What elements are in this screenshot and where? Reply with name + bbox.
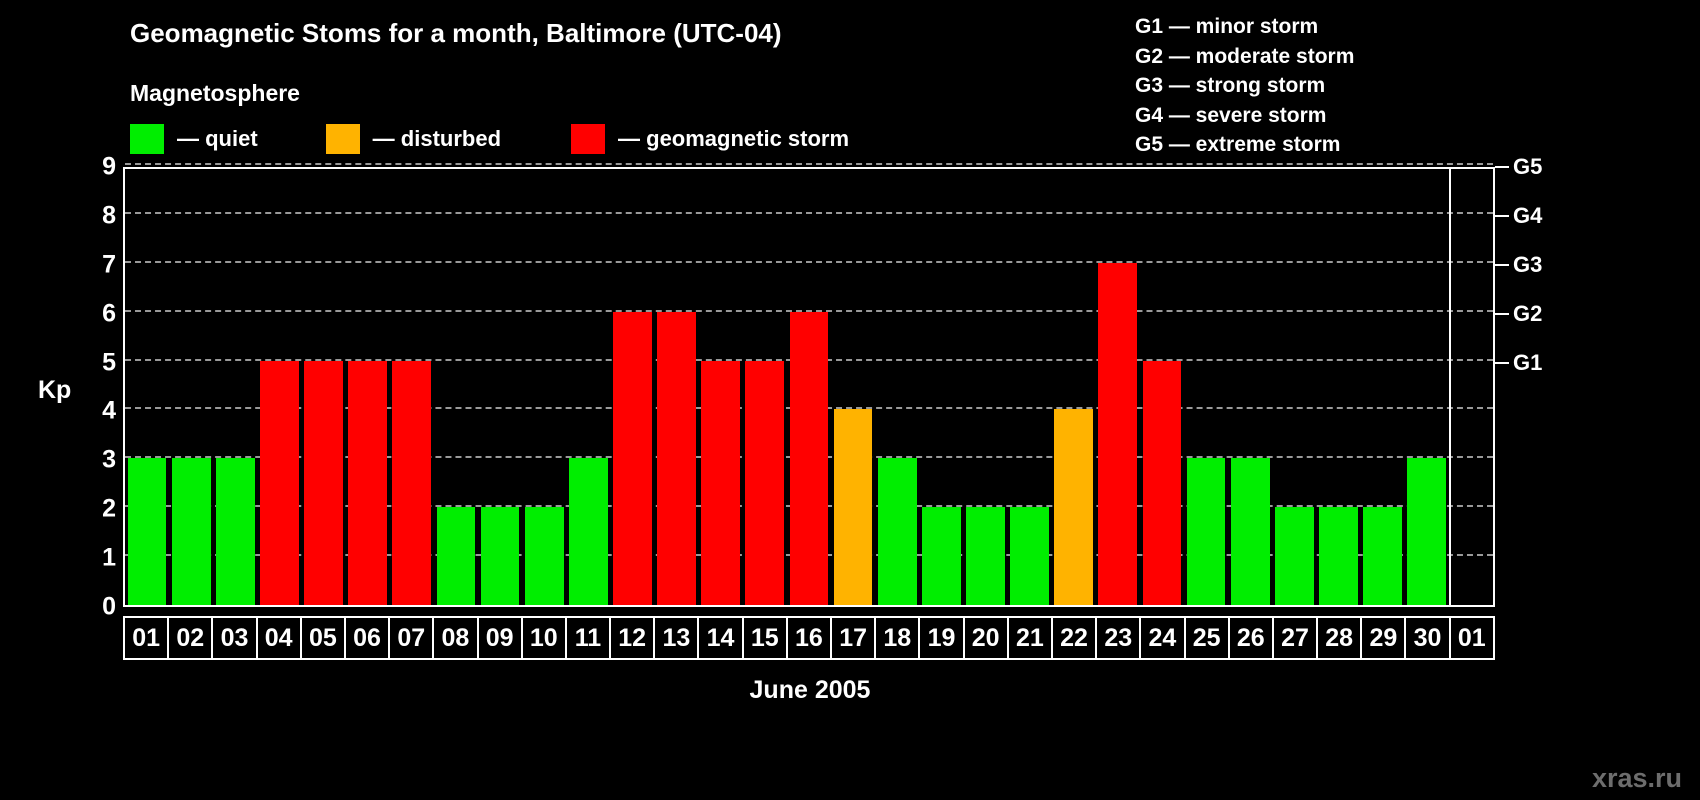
- day-label-14[interactable]: 14: [699, 618, 743, 658]
- bar-slot-day-24[interactable]: [1140, 169, 1184, 605]
- y-tick-5: 5: [102, 348, 116, 377]
- day-label-17[interactable]: 17: [832, 618, 876, 658]
- bar-slot-day-04[interactable]: [257, 169, 301, 605]
- bar-day-03[interactable]: [216, 458, 255, 605]
- bar-day-13[interactable]: [657, 312, 696, 605]
- bar-day-14[interactable]: [701, 361, 740, 605]
- day-label-19[interactable]: 19: [920, 618, 964, 658]
- bar-slot-day-01[interactable]: [1449, 169, 1493, 605]
- day-label-23[interactable]: 23: [1097, 618, 1141, 658]
- y-tick-8: 8: [102, 201, 116, 230]
- day-label-02[interactable]: 02: [169, 618, 213, 658]
- bar-slot-day-30[interactable]: [1405, 169, 1449, 605]
- page-title: Geomagnetic Stoms for a month, Baltimore…: [130, 18, 782, 49]
- bar-day-09[interactable]: [481, 507, 520, 605]
- bar-slot-day-23[interactable]: [1096, 169, 1140, 605]
- y-tick-7: 7: [102, 250, 116, 279]
- bar-day-26[interactable]: [1231, 458, 1270, 605]
- day-label-15[interactable]: 15: [744, 618, 788, 658]
- day-label-06[interactable]: 06: [346, 618, 390, 658]
- day-label-21[interactable]: 21: [1009, 618, 1053, 658]
- g-tick-mark-g4: [1495, 215, 1509, 217]
- watermark: xras.ru: [1592, 763, 1682, 794]
- legend-label-storm: — geomagnetic storm: [618, 126, 849, 152]
- bar-slot-day-22[interactable]: [1052, 169, 1096, 605]
- legend-swatch-storm-icon: [571, 124, 605, 154]
- legend-swatch-quiet-icon: [130, 124, 164, 154]
- day-label-01[interactable]: 01: [1451, 618, 1493, 658]
- day-label-16[interactable]: 16: [788, 618, 832, 658]
- bar-day-15[interactable]: [745, 361, 784, 605]
- g-scale-axis: G5G4G3G2G1: [1513, 167, 1573, 607]
- legend-item-quiet: — quiet: [130, 124, 258, 154]
- bar-day-28[interactable]: [1319, 507, 1358, 605]
- y-axis-title: Kp: [38, 376, 71, 405]
- y-tick-3: 3: [102, 446, 116, 475]
- legend-item-storm: — geomagnetic storm: [571, 124, 849, 154]
- bar-slot-day-17[interactable]: [831, 169, 875, 605]
- day-label-09[interactable]: 09: [479, 618, 523, 658]
- bar-day-04[interactable]: [260, 361, 299, 605]
- legend: — quiet — disturbed — geomagnetic storm: [130, 124, 849, 154]
- day-label-13[interactable]: 13: [655, 618, 699, 658]
- day-label-27[interactable]: 27: [1274, 618, 1318, 658]
- bar-slot-day-08[interactable]: [434, 169, 478, 605]
- bar-slot-day-29[interactable]: [1361, 169, 1405, 605]
- plot-area: [123, 167, 1495, 607]
- g-tick-mark-g1: [1495, 362, 1509, 364]
- bar-slot-day-28[interactable]: [1316, 169, 1360, 605]
- day-label-24[interactable]: 24: [1141, 618, 1185, 658]
- bar-day-25[interactable]: [1187, 458, 1226, 605]
- bar-day-21[interactable]: [1010, 507, 1049, 605]
- y-tick-4: 4: [102, 397, 116, 426]
- bar-slot-day-19[interactable]: [919, 169, 963, 605]
- bar-day-17[interactable]: [834, 409, 873, 605]
- bar-slot-day-10[interactable]: [522, 169, 566, 605]
- y-tick-1: 1: [102, 544, 116, 573]
- x-axis-title: June 2005: [0, 676, 1620, 705]
- g-tick-mark-g3: [1495, 264, 1509, 266]
- bar-slot-day-20[interactable]: [963, 169, 1007, 605]
- day-label-30[interactable]: 30: [1406, 618, 1450, 658]
- bar-day-18[interactable]: [878, 458, 917, 605]
- day-label-04[interactable]: 04: [258, 618, 302, 658]
- day-label-11[interactable]: 11: [567, 618, 611, 658]
- g-scale-line-g5: G5 — extreme storm: [1135, 130, 1354, 160]
- bar-series: [125, 169, 1493, 605]
- day-label-18[interactable]: 18: [876, 618, 920, 658]
- bar-slot-day-09[interactable]: [478, 169, 522, 605]
- legend-swatch-disturbed-icon: [326, 124, 360, 154]
- bar-slot-day-14[interactable]: [699, 169, 743, 605]
- bar-slot-day-05[interactable]: [302, 169, 346, 605]
- legend-heading: Magnetosphere: [130, 80, 300, 107]
- y-tick-9: 9: [102, 153, 116, 182]
- bar-day-08[interactable]: [437, 507, 476, 605]
- day-label-26[interactable]: 26: [1230, 618, 1274, 658]
- gridline-kp-9: [125, 163, 1493, 165]
- bar-slot-day-01[interactable]: [125, 169, 169, 605]
- bar-day-01[interactable]: [128, 458, 167, 605]
- bar-slot-day-11[interactable]: [566, 169, 610, 605]
- g-tick-g5: G5: [1513, 154, 1542, 180]
- bar-day-20[interactable]: [966, 507, 1005, 605]
- bar-slot-day-15[interactable]: [743, 169, 787, 605]
- bar-day-16[interactable]: [790, 312, 829, 605]
- g-scale-line-g4: G4 — severe storm: [1135, 101, 1354, 131]
- bar-day-30[interactable]: [1407, 458, 1446, 605]
- day-label-08[interactable]: 08: [434, 618, 478, 658]
- day-label-20[interactable]: 20: [965, 618, 1009, 658]
- g-scale-line-g3: G3 — strong storm: [1135, 71, 1354, 101]
- g-tick-g4: G4: [1513, 203, 1542, 229]
- bar-day-27[interactable]: [1275, 507, 1314, 605]
- bar-slot-day-06[interactable]: [346, 169, 390, 605]
- legend-label-quiet: — quiet: [177, 126, 258, 152]
- bar-slot-day-27[interactable]: [1272, 169, 1316, 605]
- y-axis: 9876543210: [78, 167, 116, 607]
- bar-slot-day-03[interactable]: [213, 169, 257, 605]
- bar-day-12[interactable]: [613, 312, 652, 605]
- g-tick-mark-g2: [1495, 313, 1509, 315]
- bar-slot-day-21[interactable]: [1008, 169, 1052, 605]
- bar-day-24[interactable]: [1143, 361, 1182, 605]
- bar-day-07[interactable]: [392, 361, 431, 605]
- day-label-03[interactable]: 03: [213, 618, 257, 658]
- bar-day-22[interactable]: [1054, 409, 1093, 605]
- y-tick-2: 2: [102, 495, 116, 524]
- g-tick-mark-g5: [1495, 166, 1509, 168]
- bar-day-19[interactable]: [922, 507, 961, 605]
- day-label-05[interactable]: 05: [302, 618, 346, 658]
- bar-day-29[interactable]: [1363, 507, 1402, 605]
- legend-label-disturbed: — disturbed: [373, 126, 501, 152]
- bar-slot-day-13[interactable]: [655, 169, 699, 605]
- y-tick-0: 0: [102, 593, 116, 622]
- bar-slot-day-18[interactable]: [875, 169, 919, 605]
- bar-day-05[interactable]: [304, 361, 343, 605]
- g-scale-line-g2: G2 — moderate storm: [1135, 42, 1354, 72]
- g-tick-g2: G2: [1513, 301, 1542, 327]
- bar-day-11[interactable]: [569, 458, 608, 605]
- day-label-01[interactable]: 01: [125, 618, 169, 658]
- day-label-28[interactable]: 28: [1318, 618, 1362, 658]
- g-tick-g1: G1: [1513, 350, 1542, 376]
- bar-day-06[interactable]: [348, 361, 387, 605]
- day-label-22[interactable]: 22: [1053, 618, 1097, 658]
- day-label-07[interactable]: 07: [390, 618, 434, 658]
- bar-day-10[interactable]: [525, 507, 564, 605]
- bar-day-23[interactable]: [1098, 263, 1137, 605]
- bar-slot-day-16[interactable]: [787, 169, 831, 605]
- bar-slot-day-02[interactable]: [169, 169, 213, 605]
- bar-slot-day-12[interactable]: [610, 169, 654, 605]
- last-day-divider: [1449, 169, 1451, 605]
- day-label-10[interactable]: 10: [523, 618, 567, 658]
- g-tick-g3: G3: [1513, 252, 1542, 278]
- bar-day-02[interactable]: [172, 458, 211, 605]
- g-scale-legend: G1 — minor storm G2 — moderate storm G3 …: [1135, 12, 1354, 160]
- y-tick-6: 6: [102, 299, 116, 328]
- bar-slot-day-25[interactable]: [1184, 169, 1228, 605]
- day-axis: 0102030405060708091011121314151617181920…: [123, 616, 1495, 660]
- day-label-12[interactable]: 12: [611, 618, 655, 658]
- bar-slot-day-26[interactable]: [1228, 169, 1272, 605]
- day-label-29[interactable]: 29: [1362, 618, 1406, 658]
- day-label-25[interactable]: 25: [1186, 618, 1230, 658]
- legend-item-disturbed: — disturbed: [326, 124, 501, 154]
- bar-slot-day-07[interactable]: [390, 169, 434, 605]
- g-scale-line-g1: G1 — minor storm: [1135, 12, 1354, 42]
